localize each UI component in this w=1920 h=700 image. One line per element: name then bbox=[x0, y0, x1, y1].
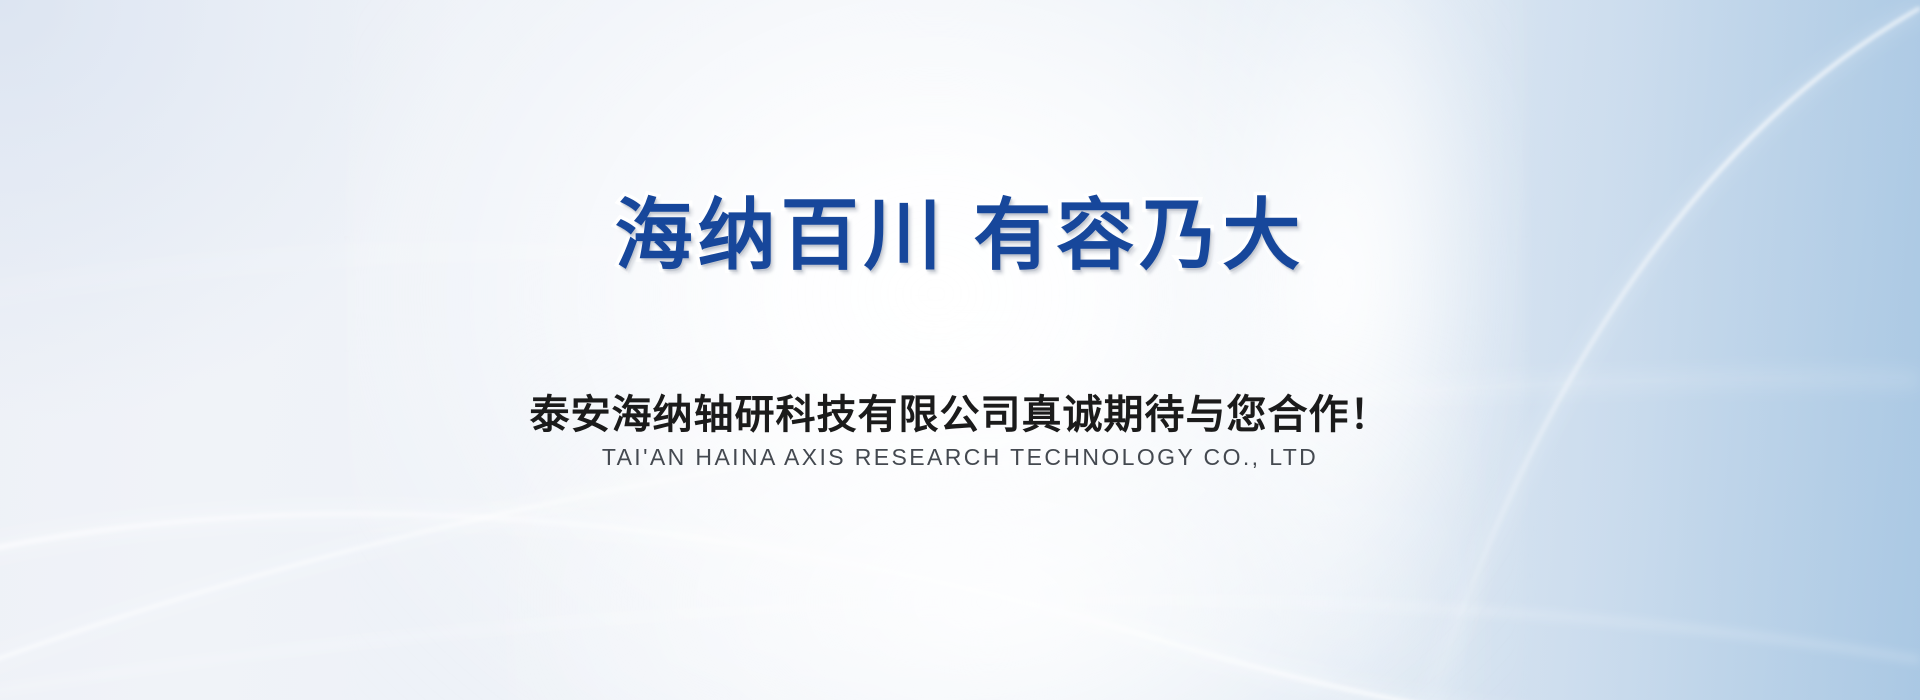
banner-subtitle-chinese: 泰安海纳轴研科技有限公司真诚期待与您合作！ bbox=[0, 393, 1920, 437]
banner-content: 海纳百川 有容乃大 泰安海纳轴研科技有限公司真诚期待与您合作！ TAI'AN H… bbox=[0, 0, 1920, 700]
hero-banner: 海纳百川 有容乃大 泰安海纳轴研科技有限公司真诚期待与您合作！ TAI'AN H… bbox=[0, 0, 1920, 700]
banner-headline: 海纳百川 有容乃大 bbox=[0, 196, 1920, 274]
banner-subtitle-english: TAI'AN HAINA AXIS RESEARCH TECHNOLOGY CO… bbox=[0, 444, 1920, 472]
